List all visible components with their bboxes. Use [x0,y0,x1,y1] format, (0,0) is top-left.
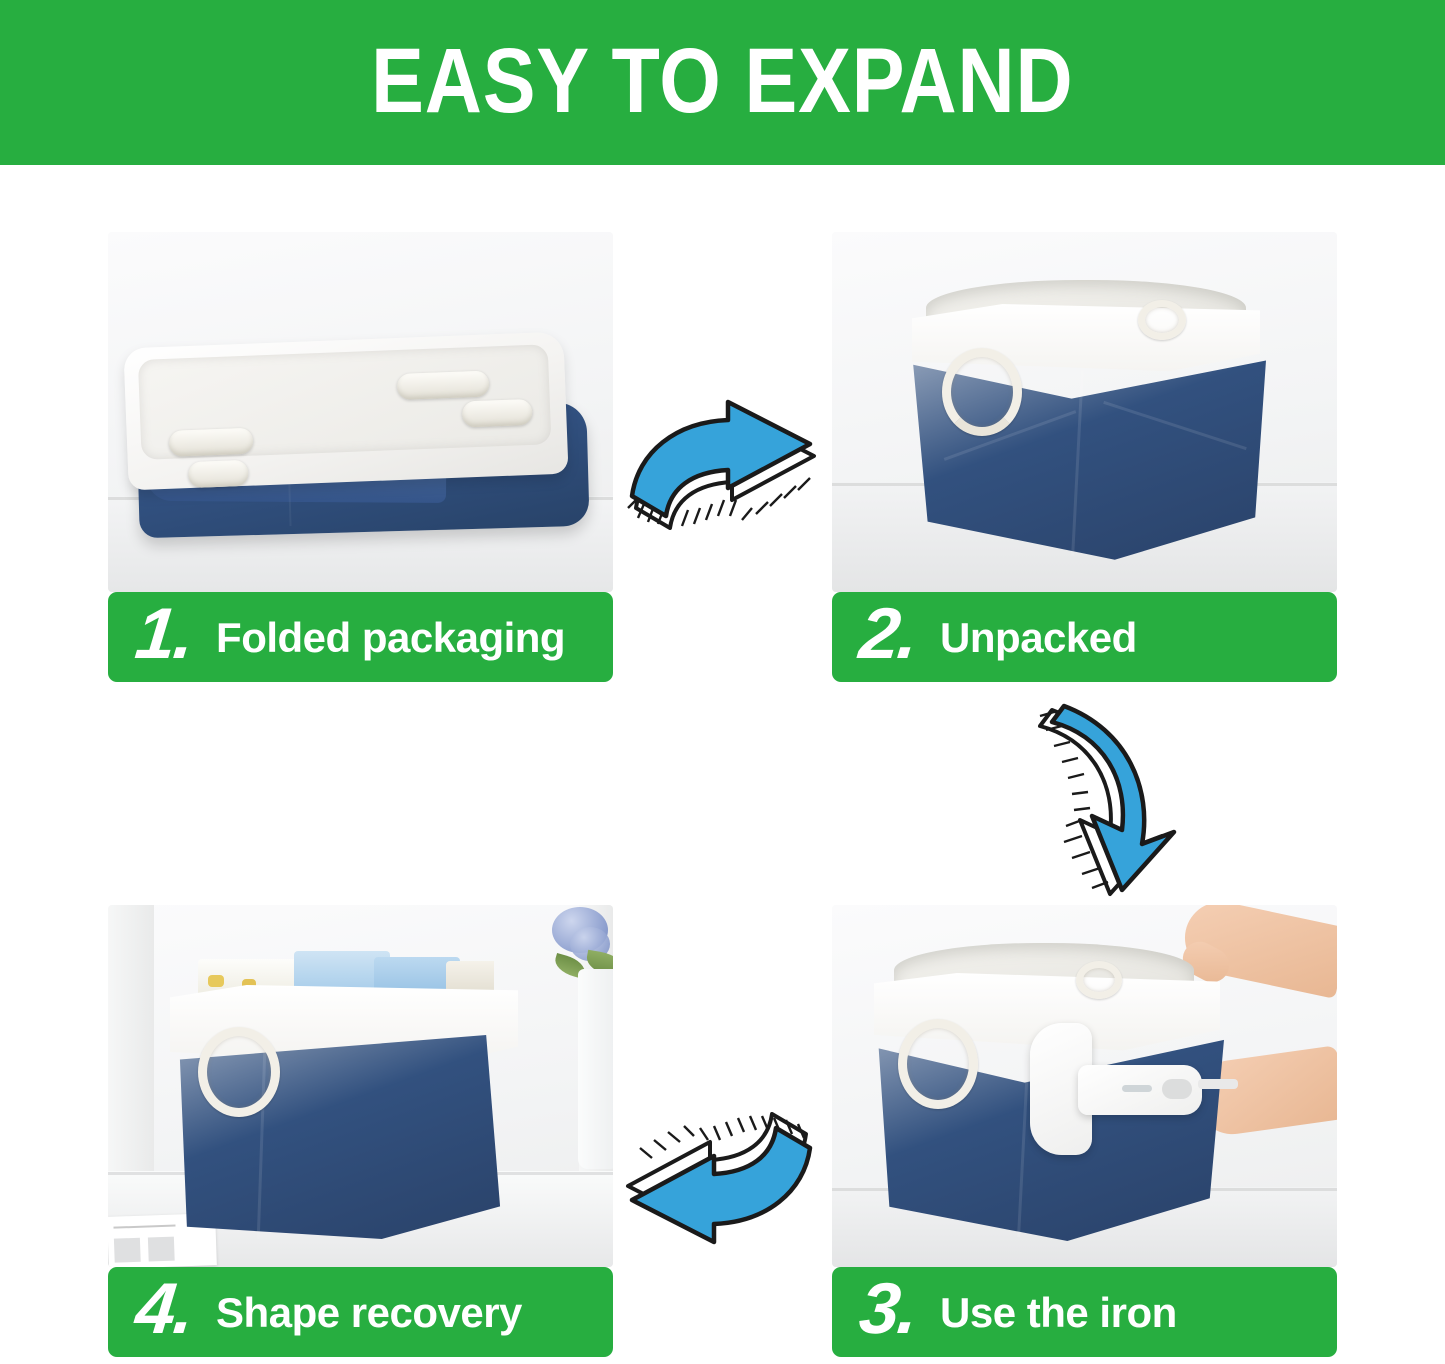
rope-knot [169,428,254,457]
power-cord [1198,1079,1238,1089]
step-1-text: Folded packaging [216,617,565,659]
step-2-text: Unpacked [940,617,1137,659]
header-banner: EASY TO EXPAND [0,0,1445,165]
arrow-step1-to-step2 [618,392,822,532]
photo-scene-unpacked [832,232,1337,592]
rope-knot [188,460,249,488]
step-1-photo [108,232,613,592]
step-2-number: 2. [856,598,920,670]
rope-knot [462,399,533,428]
white-lining-panel [123,332,568,491]
step-3-number: 3. [856,1273,920,1345]
storage-basket [900,274,1272,564]
flower-vase [578,969,613,1169]
step-4-label-bar: 4. Shape recovery [108,1267,613,1357]
step-panel-3: 3. Use the iron [832,905,1337,1357]
magazine-thumb [148,1237,175,1262]
steamer-indicator-lights [1122,1085,1152,1092]
steamer-control-button[interactable] [1162,1079,1192,1099]
arrow-step2-to-step3 [1024,694,1198,902]
step-2-photo [832,232,1337,592]
clothes-pattern [208,975,224,987]
arrow-step3-to-step4 [620,1112,824,1252]
rope-handle-far [1138,300,1186,340]
page-title: EASY TO EXPAND [371,35,1073,127]
step-panel-4: 4. Shape recovery [108,905,613,1357]
rope-handle [198,1027,280,1117]
photo-scene-folded [108,232,613,592]
photo-scene-use-iron [832,905,1337,1267]
rope-handle [898,1019,978,1109]
step-3-label-bar: 3. Use the iron [832,1267,1337,1357]
step-3-photo [832,905,1337,1267]
storage-basket [152,949,542,1239]
step-1-label-bar: 1. Folded packaging [108,592,613,682]
step-4-text: Shape recovery [216,1292,522,1334]
rope-knot [397,370,490,400]
step-4-number: 4. [132,1273,196,1345]
step-4-photo [108,905,613,1267]
rope-handle [942,348,1022,436]
step-panel-2: 2. Unpacked [832,232,1337,682]
rope-handle-far [1076,961,1122,999]
step-2-label-bar: 2. Unpacked [832,592,1337,682]
photo-scene-shape-recovery [108,905,613,1267]
step-panel-1: 1. Folded packaging [108,232,613,682]
garment-steamer [1030,1023,1230,1163]
step-1-number: 1. [132,598,196,670]
step-3-text: Use the iron [940,1292,1177,1334]
magazine-thumb [114,1238,141,1263]
